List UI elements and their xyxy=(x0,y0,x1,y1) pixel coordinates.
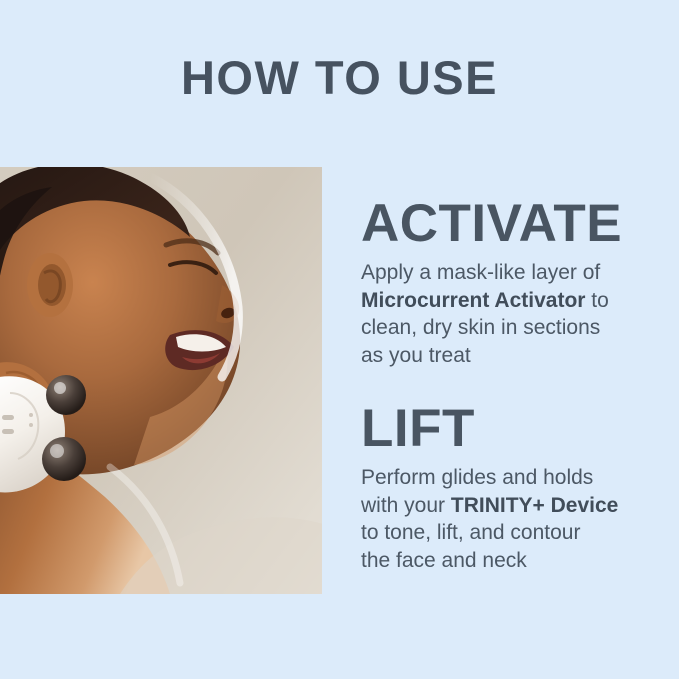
text-run: Perform glides and holds xyxy=(361,466,593,489)
page-title: HOW TO USE xyxy=(0,52,679,104)
step-activate-line-2: Microcurrent Activator to xyxy=(361,287,661,315)
hero-photo xyxy=(0,167,322,594)
step-activate-line-1: Apply a mask-like layer of xyxy=(361,259,661,287)
step-activate-heading: ACTIVATE xyxy=(361,197,661,251)
text-run: with your xyxy=(361,494,451,517)
step-lift-heading: LIFT xyxy=(361,402,661,456)
text-run: the face and neck xyxy=(361,549,527,572)
step-lift-line-3: to tone, lift, and contour xyxy=(361,519,661,547)
step-lift-line-1: Perform glides and holds xyxy=(361,464,661,492)
step-activate: ACTIVATE Apply a mask-like layer of Micr… xyxy=(361,197,661,369)
text-run: clean, dry skin in sections xyxy=(361,316,600,339)
step-lift: LIFT Perform glides and holds with your … xyxy=(361,402,661,574)
text-run: Apply a mask-like layer of xyxy=(361,261,600,284)
step-lift-line-2: with your TRINITY+ Device xyxy=(361,492,661,520)
text-run: to xyxy=(585,289,608,312)
text-run-bold: Microcurrent Activator xyxy=(361,289,585,312)
poster-canvas: HOW TO USE xyxy=(0,0,679,679)
text-run: as you treat xyxy=(361,344,471,367)
step-lift-body: Perform glides and holds with your TRINI… xyxy=(361,464,661,574)
step-activate-body: Apply a mask-like layer of Microcurrent … xyxy=(361,259,661,369)
text-run-bold: TRINITY+ Device xyxy=(451,494,618,517)
step-activate-line-4: as you treat xyxy=(361,342,661,370)
text-run: to tone, lift, and contour xyxy=(361,521,580,544)
step-activate-line-3: clean, dry skin in sections xyxy=(361,314,661,342)
step-lift-line-4: the face and neck xyxy=(361,547,661,575)
hero-photo-illustration xyxy=(0,167,322,594)
